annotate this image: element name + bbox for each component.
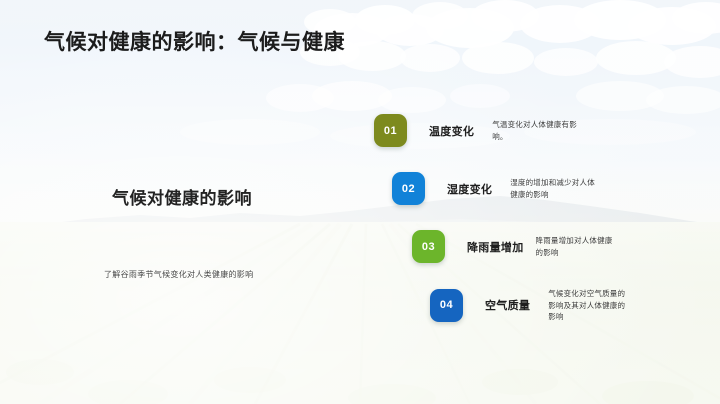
step-description-03: 降雨量增加对人体健康的影响 (536, 235, 618, 258)
step-number-badge-02: 02 (392, 172, 425, 205)
step-number-badge-03: 03 (412, 230, 445, 263)
step-item-04[interactable]: 04 空气质量 气候变化对空气质量的影响及其对人体健康的影响 (430, 288, 630, 323)
step-item-01[interactable]: 01 温度变化 气温变化对人体健康有影响。 (374, 114, 578, 147)
section-caption: 了解谷雨季节气候变化对人类健康的影响 (104, 269, 253, 280)
step-description-04: 气候变化对空气质量的影响及其对人体健康的影响 (548, 288, 630, 323)
step-item-03[interactable]: 03 降雨量增加 降雨量增加对人体健康的影响 (412, 230, 618, 263)
step-description-01: 气温变化对人体健康有影响。 (492, 119, 578, 142)
step-number-badge-04: 04 (430, 289, 463, 322)
step-label-04: 空气质量 (485, 297, 530, 313)
step-item-02[interactable]: 02 湿度变化 湿度的增加和减少对人体健康的影响 (392, 172, 596, 205)
step-label-02: 湿度变化 (447, 181, 492, 197)
section-heading: 气候对健康的影响 (112, 184, 252, 209)
step-label-03: 降雨量增加 (467, 239, 524, 255)
step-description-02: 湿度的增加和减少对人体健康的影响 (510, 177, 596, 200)
presentation-slide: 气候对健康的影响：气候与健康 气候对健康的影响 了解谷雨季节气候变化对人类健康的… (0, 0, 720, 404)
step-label-01: 温度变化 (429, 123, 474, 139)
step-number-badge-01: 01 (374, 114, 407, 147)
slide-title: 气候对健康的影响：气候与健康 (44, 26, 345, 56)
